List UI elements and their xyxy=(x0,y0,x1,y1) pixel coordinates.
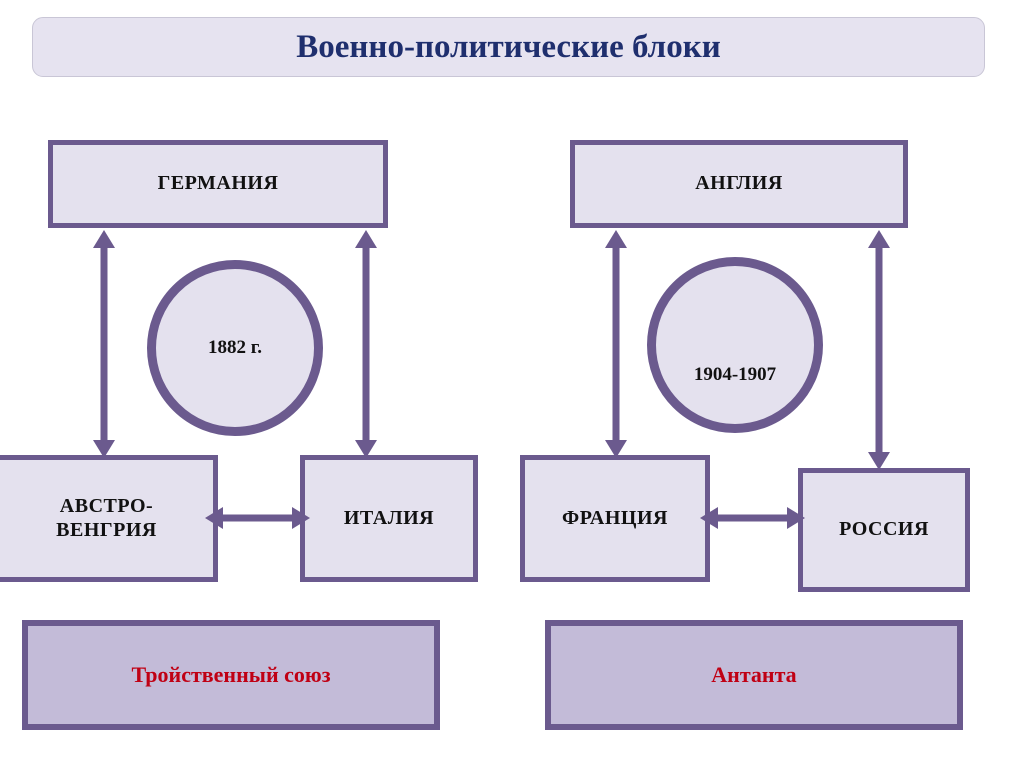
node-russia-label: РОССИЯ xyxy=(839,518,929,542)
node-germany-label: ГЕРМАНИЯ xyxy=(158,172,279,196)
connector-germany-italy-icon xyxy=(348,230,384,458)
node-russia: РОССИЯ xyxy=(798,468,970,592)
arrow-head-right xyxy=(292,507,310,529)
node-france: ФРАНЦИЯ xyxy=(520,455,710,582)
arrow-shaft xyxy=(220,515,295,522)
node-england-label: АНГЛИЯ xyxy=(695,172,783,196)
node-france-label: ФРАНЦИЯ xyxy=(562,507,668,531)
arrow-shaft xyxy=(715,515,790,522)
caption-entente-label: Антанта xyxy=(711,662,796,688)
arrow-shaft xyxy=(876,247,883,453)
year-circle-triple-alliance: 1882 г. xyxy=(147,260,323,436)
arrow-head-up xyxy=(868,230,890,248)
arrow-head-up xyxy=(605,230,627,248)
arrow-head-up xyxy=(93,230,115,248)
diagram-canvas: Военно-политические блоки ГЕРМАНИЯ АНГЛИ… xyxy=(0,0,1024,767)
year-circle-entente: 1904-1907 xyxy=(647,257,823,433)
node-germany: ГЕРМАНИЯ xyxy=(48,140,388,228)
connector-germany-austria-hungary-icon xyxy=(86,230,122,458)
year-label-1882: 1882 г. xyxy=(208,337,262,359)
arrow-shaft xyxy=(363,247,370,441)
arrow-head-down xyxy=(868,452,890,470)
arrow-head-left xyxy=(205,507,223,529)
page-title-bar: Военно-политические блоки xyxy=(32,17,985,77)
arrow-head-left xyxy=(700,507,718,529)
caption-triple-alliance-label: Тройственный союз xyxy=(131,662,330,688)
arrow-shaft xyxy=(613,247,620,441)
connector-england-france-icon xyxy=(598,230,634,458)
caption-entente: Антанта xyxy=(545,620,963,730)
connector-france-russia-icon xyxy=(700,500,805,536)
node-england: АНГЛИЯ xyxy=(570,140,908,228)
arrow-shaft xyxy=(101,247,108,441)
connector-austria-hungary-italy-icon xyxy=(205,500,310,536)
node-italy: ИТАЛИЯ xyxy=(300,455,478,582)
arrow-head-right xyxy=(787,507,805,529)
node-austria-hungary: АВСТРО- ВЕНГРИЯ xyxy=(0,455,218,582)
connector-england-russia-icon xyxy=(861,230,897,470)
node-austria-hungary-label: АВСТРО- ВЕНГРИЯ xyxy=(56,495,157,542)
caption-triple-alliance: Тройственный союз xyxy=(22,620,440,730)
node-italy-label: ИТАЛИЯ xyxy=(344,507,434,531)
year-label-1904-1907: 1904-1907 xyxy=(694,364,776,386)
arrow-head-down xyxy=(355,440,377,458)
page-title: Военно-политические блоки xyxy=(296,29,720,66)
arrow-head-down xyxy=(93,440,115,458)
arrow-head-up xyxy=(355,230,377,248)
arrow-head-down xyxy=(605,440,627,458)
